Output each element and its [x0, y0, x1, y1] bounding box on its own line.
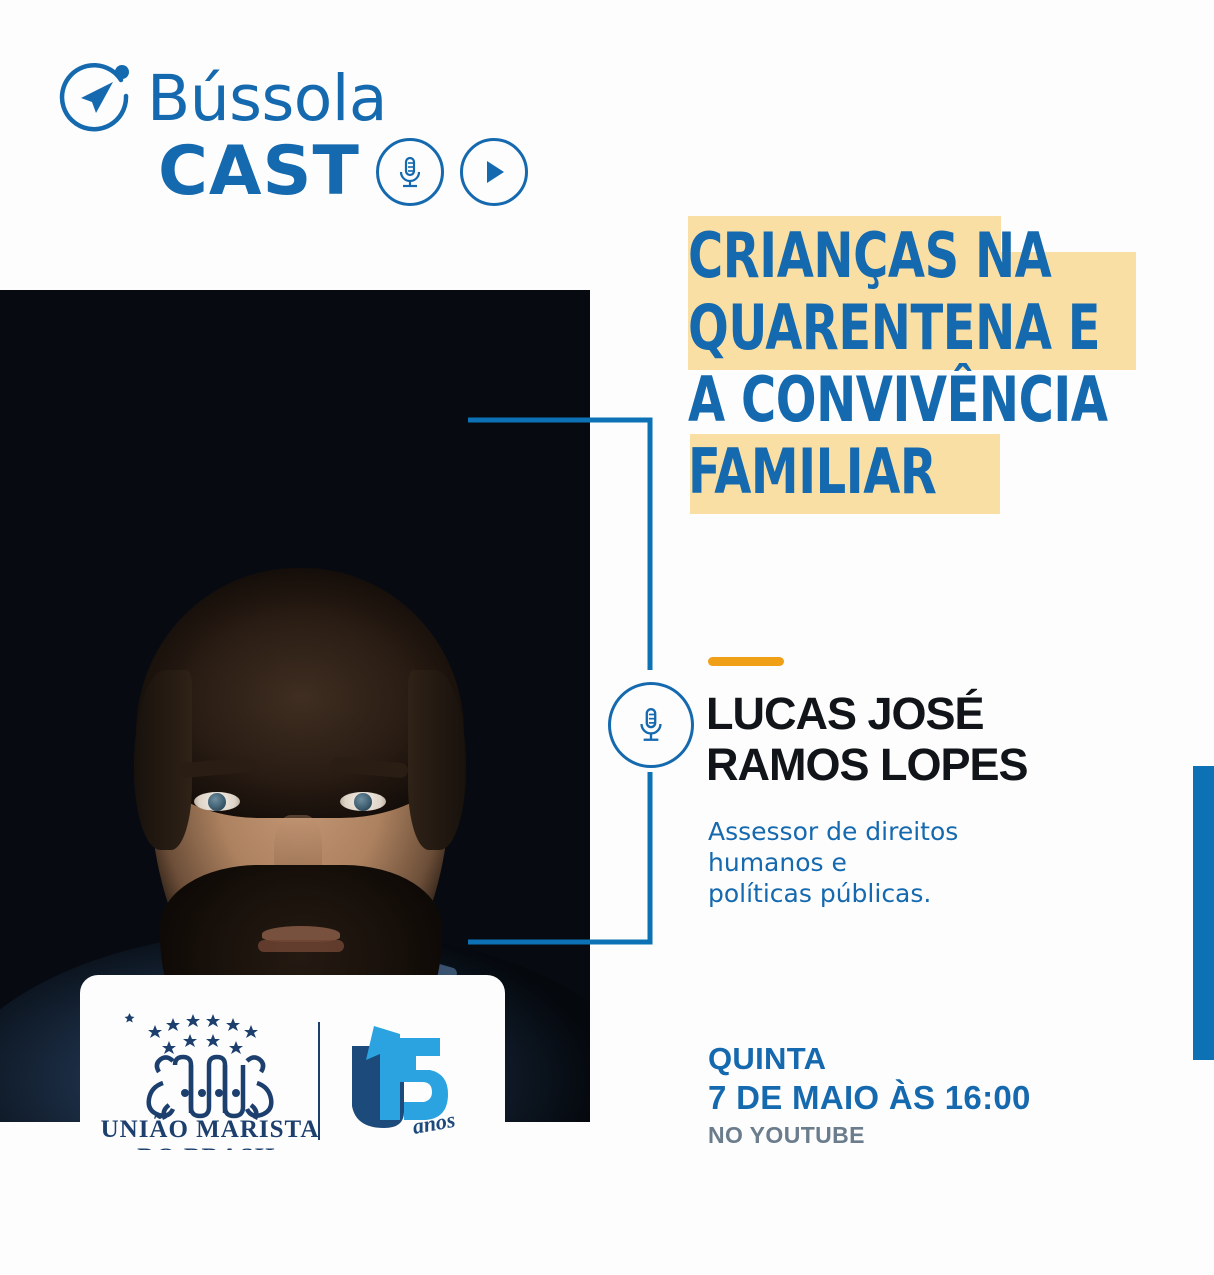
logo-top-row: Bússola: [55, 58, 387, 138]
title-line-4-text: FAMILIAR: [688, 440, 936, 504]
speaker-name-line-1: LUCAS JOSÉ: [706, 688, 1136, 739]
right-accent-bar: [1193, 766, 1214, 1060]
speaker-microphone-icon: [608, 682, 694, 768]
logo-divider: [318, 1022, 320, 1140]
title-line-2: QUARENTENA E: [688, 296, 1158, 368]
compass-navigation-icon: [55, 58, 135, 138]
portrait-eye-left: [194, 792, 240, 811]
speaker-role-line-2: humanos e: [708, 847, 1108, 878]
title-line-3: A CONVIVÊNCIA: [688, 368, 1158, 440]
accent-dash: [708, 657, 784, 666]
speaker-role-line-1: Assessor de direitos: [708, 816, 1108, 847]
play-icon[interactable]: [460, 138, 528, 206]
speaker-name-line-2: RAMOS LOPES: [706, 739, 1136, 790]
schedule-day: QUINTA: [708, 1040, 1128, 1077]
schedule-block: QUINTA 7 DE MAIO ÀS 16:00 NO YOUTUBE: [708, 1040, 1128, 1152]
microphone-icon[interactable]: [376, 138, 444, 206]
logo-bottom-row: CAST: [158, 138, 528, 206]
speaker-role: Assessor de direitos humanos e políticas…: [708, 816, 1108, 909]
anniversary-15-anos-icon: anos: [342, 1020, 462, 1145]
episode-title: CRIANÇAS NA QUARENTENA E A CONVIVÊNCIA F…: [688, 224, 1158, 512]
schedule-date: 7 DE MAIO ÀS 16:00: [708, 1077, 1128, 1118]
bussola-cast-logo: Bússola CAST: [55, 58, 575, 228]
speaker-name: LUCAS JOSÉ RAMOS LOPES: [706, 688, 1136, 790]
brand-name-bussola: Bússola: [147, 67, 387, 130]
title-line-2-text: QUARENTENA E: [688, 296, 1100, 360]
portrait-mouth: [258, 940, 344, 952]
poster-canvas: Bússola CAST: [0, 0, 1214, 1275]
marista-monogram-icon: UNIÃO MARISTA DO BRASIL: [95, 1005, 325, 1155]
partner-name-line-1: UNIÃO MARISTA: [101, 1115, 320, 1143]
schedule-platform: NO YOUTUBE: [708, 1118, 1128, 1152]
partner-name-line-2: DO BRASIL: [137, 1144, 283, 1150]
title-line-3-text: A CONVIVÊNCIA: [688, 368, 1108, 432]
speaker-role-line-3: políticas públicas.: [708, 878, 1108, 909]
title-line-4: FAMILIAR: [688, 440, 1158, 512]
title-line-1-text: CRIANÇAS NA: [688, 224, 1051, 288]
portrait-hair-left: [134, 670, 192, 850]
brand-name-cast: CAST: [158, 138, 360, 206]
portrait-eye-right: [340, 792, 386, 811]
